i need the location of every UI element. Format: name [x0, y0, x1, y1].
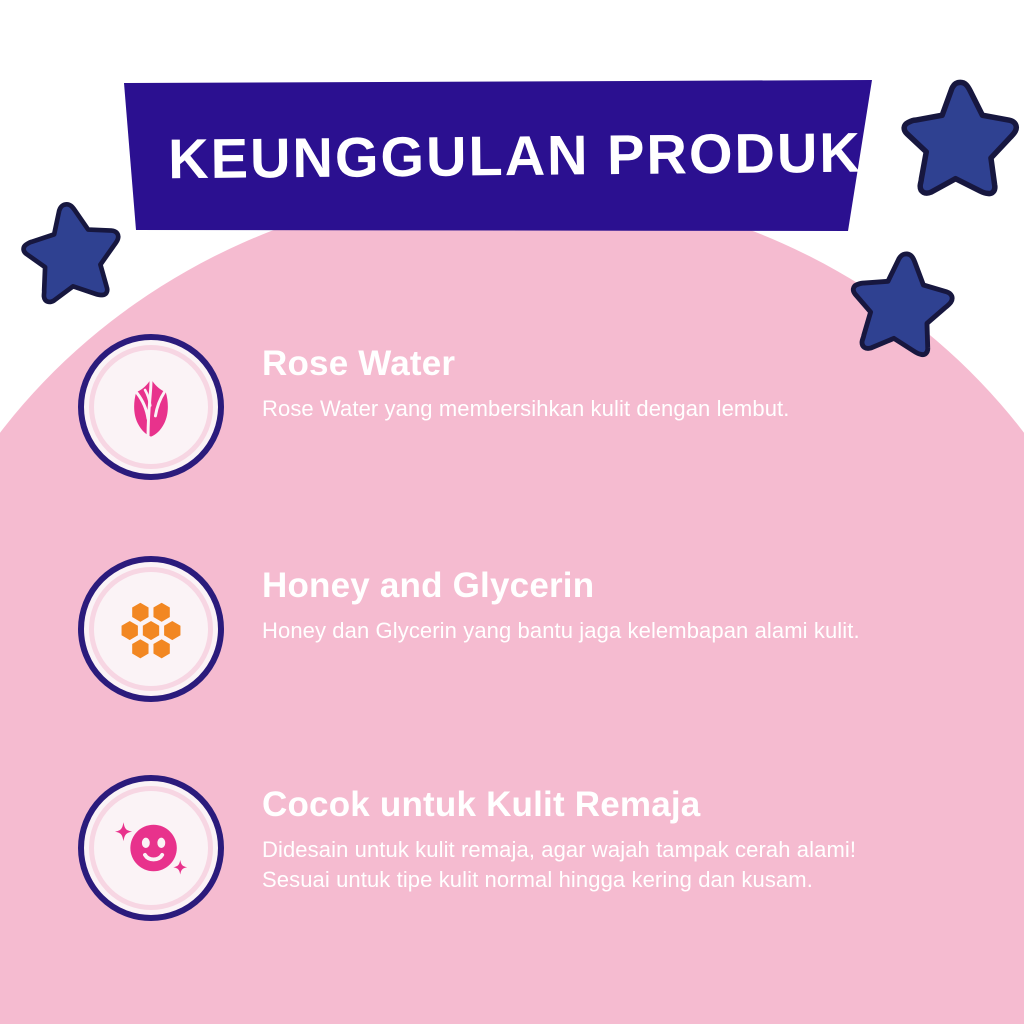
- feature-text-block: Cocok untuk Kulit Remaja Didesain untuk …: [224, 773, 856, 895]
- feature-item: Cocok untuk Kulit Remaja Didesain untuk …: [78, 773, 978, 921]
- feature-text-block: Rose Water Rose Water yang membersihkan …: [224, 332, 789, 424]
- page-title-text: KEUNGGULAN PRODUK: [162, 125, 862, 188]
- feature-text-block: Honey and Glycerin Honey dan Glycerin ya…: [224, 554, 860, 646]
- promo-graphic: KEUNGGULAN PRODUK Rose Water Rose Water …: [0, 0, 1024, 1024]
- feature-title: Rose Water: [262, 346, 789, 383]
- feature-description-line: Didesain untuk kulit remaja, agar wajah …: [262, 835, 856, 865]
- feature-item: Honey and Glycerin Honey dan Glycerin ya…: [78, 554, 978, 702]
- feature-description-line: Honey dan Glycerin yang bantu jaga kelem…: [262, 616, 860, 646]
- feature-description: Rose Water yang membersihkan kulit denga…: [262, 394, 789, 424]
- feature-description: Honey dan Glycerin yang bantu jaga kelem…: [262, 616, 860, 646]
- smiling-face-sparkle-icon: [78, 775, 224, 921]
- honeycomb-icon: [78, 556, 224, 702]
- honeycomb-icon-glyph: [113, 591, 189, 667]
- feature-description: Didesain untuk kulit remaja, agar wajah …: [262, 835, 856, 896]
- star-right-icon: [841, 241, 960, 362]
- feature-item: Rose Water Rose Water yang membersihkan …: [78, 332, 978, 480]
- feature-title: Honey and Glycerin: [262, 568, 860, 605]
- feature-title: Cocok untuk Kulit Remaja: [262, 787, 856, 824]
- smiling-face-sparkle-icon-glyph: [108, 805, 194, 891]
- rose-icon: [78, 334, 224, 480]
- page-title: KEUNGGULAN PRODUK: [0, 77, 1024, 235]
- feature-description-line: Sesuai untuk tipe kulit normal hingga ke…: [262, 865, 856, 895]
- feature-description-line: Rose Water yang membersihkan kulit denga…: [262, 394, 789, 424]
- rose-icon-glyph: [114, 370, 188, 444]
